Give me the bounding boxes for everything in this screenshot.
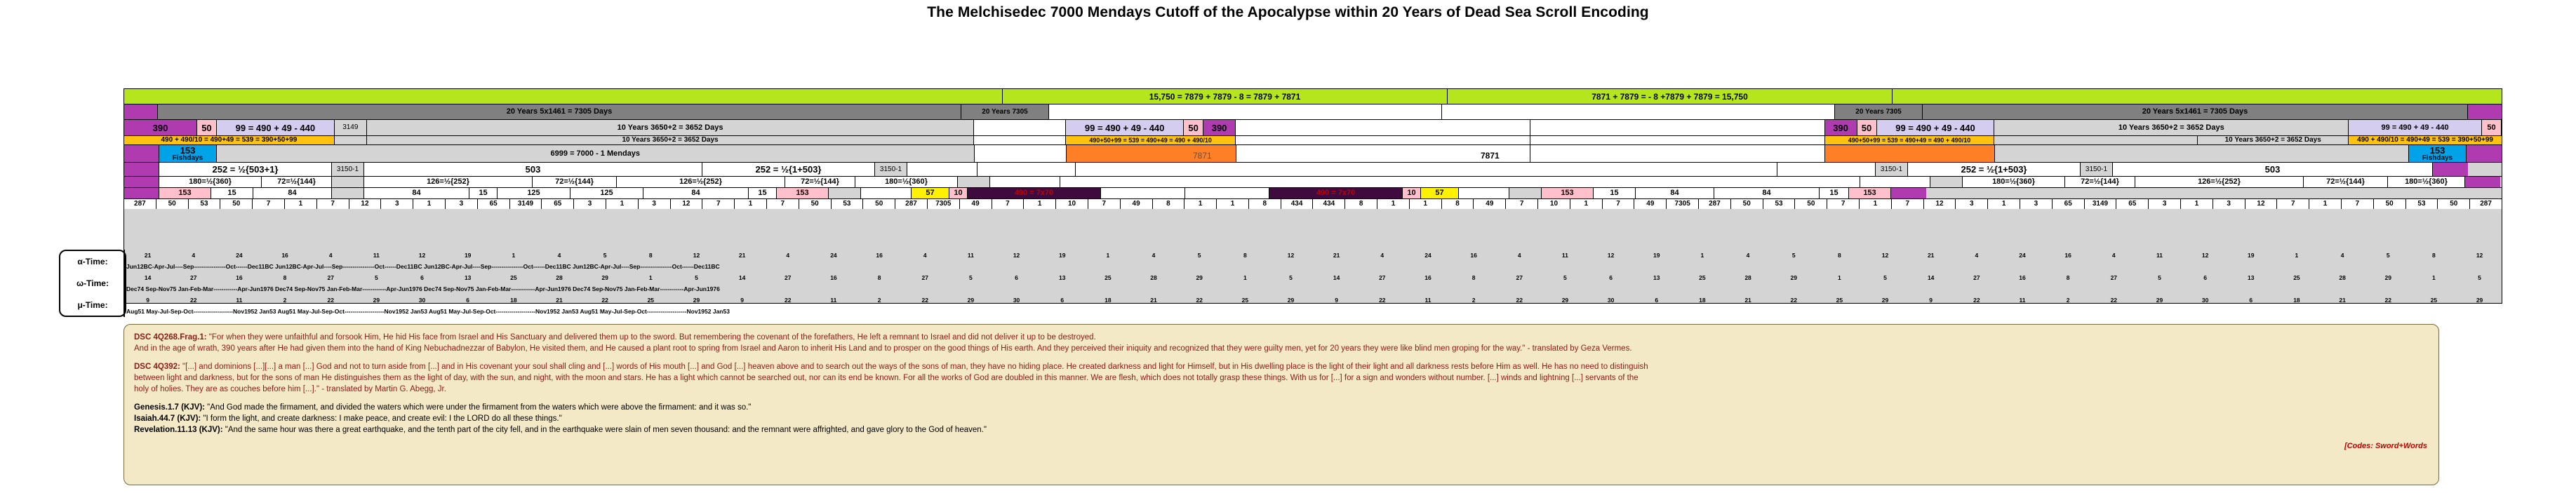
r153-pad1 — [332, 188, 364, 198]
date-number: 29 — [1177, 274, 1222, 281]
date-number: 13 — [1039, 274, 1085, 281]
gold-center-left-formula: 490+50+99 = 539 = 490+49 = 490 + 490/10 — [1066, 136, 1236, 144]
r153-r153b: 153 — [1849, 188, 1891, 198]
date-number: 16 — [1405, 274, 1450, 281]
date-number: 22 — [1954, 297, 1999, 304]
number-cell: 50 — [1731, 199, 1763, 209]
date-number: 24 — [810, 252, 856, 259]
r252-left-3150: 3150-1 — [332, 163, 364, 176]
date-number: 29 — [582, 274, 628, 281]
date-number: 22 — [171, 297, 216, 304]
r252-gap-left — [907, 163, 977, 176]
date-number: 12 — [1268, 252, 1314, 259]
seg-left-10years: 10 Years 3650+2 = 3652 Days — [367, 120, 974, 135]
number-cell: 8 — [1345, 199, 1377, 209]
date-number: 5 — [948, 274, 994, 281]
date-number: 30 — [1588, 297, 1634, 304]
number-cell: 50 — [220, 199, 253, 209]
omega-time-label: ω-Time: — [60, 273, 125, 295]
number-cell: 7 — [1088, 199, 1121, 209]
date-number: 22 — [1497, 297, 1542, 304]
date-number: 8 — [262, 274, 307, 281]
number-cell: 1 — [1024, 199, 1056, 209]
r252-left-252: 252 = ½{503+1} — [159, 163, 332, 176]
number-cell: 10 — [1056, 199, 1088, 209]
revelation-verse: Revelation.11.13 (KJV): "And the same ho… — [134, 424, 2429, 435]
r180-a2: 180=½{360} — [2388, 177, 2465, 187]
date-number: 19 — [2228, 252, 2274, 259]
number-cell: 50 — [863, 199, 895, 209]
gray-left-year-label: 20 Years 5x1461 = 7305 Days — [158, 104, 961, 119]
alpha-time-label: α-Time: — [60, 251, 125, 273]
number-cell: 7 — [1827, 199, 1860, 209]
date-number: 28 — [1130, 274, 1176, 281]
r153-r84: 84 — [1636, 188, 1714, 198]
date-number: 30 — [994, 297, 1039, 304]
date-number: 5 — [582, 252, 628, 259]
half-360-row: 180=½{360} 72=½{144} 126=½{252} 72=½{144… — [124, 176, 2502, 187]
date-number: 5 — [2457, 274, 2502, 281]
number-cell: 12 — [349, 199, 382, 209]
date-number: 1 — [2274, 252, 2319, 259]
r180-d1: 72=½{144} — [533, 177, 617, 187]
seg-center-white-left — [1236, 120, 1530, 135]
date-number: 2 — [262, 297, 307, 304]
date-number: 18 — [1085, 297, 1130, 304]
genesis-ref: Genesis.1.7 (KJV): — [134, 403, 205, 412]
date-number: 28 — [536, 274, 582, 281]
r153-r84b: 84 — [1714, 188, 1820, 198]
date-number: 12 — [1862, 252, 1908, 259]
date-number: 4 — [308, 252, 354, 259]
r252-right-3150: 3150-1 — [1876, 163, 1908, 176]
date-number: 29 — [1542, 297, 1588, 304]
gold-left-10years: 10 Years 3650+2 = 3652 Days — [367, 136, 974, 144]
date-number: 11 — [810, 297, 856, 304]
fish-left-magenta — [124, 145, 159, 162]
date-number: 16 — [1999, 274, 2045, 281]
r153-right-magenta — [1891, 188, 1926, 198]
date-number: 16 — [262, 252, 307, 259]
date-number: 21 — [1908, 252, 1954, 259]
date-number: 1 — [628, 274, 674, 281]
number-cell: 50 — [156, 199, 189, 209]
number-cell: 49 — [1634, 199, 1667, 209]
date-number: 29 — [1268, 297, 1314, 304]
number-cell: 8 — [1249, 199, 1281, 209]
fish-center-white-right — [1530, 145, 1825, 162]
number-cell: 53 — [2406, 199, 2438, 209]
date-number: 4 — [902, 252, 948, 259]
date-number: 13 — [1634, 274, 1679, 281]
date-number: 12 — [674, 252, 719, 259]
r153-yellow-57b: 57 — [1421, 188, 1459, 198]
number-cell: 3 — [446, 199, 478, 209]
r180-d: 126=½{252} — [617, 177, 785, 187]
mu-time-label: μ-Time: — [60, 294, 125, 316]
date-number: 8 — [1222, 252, 1268, 259]
seg-gap-left — [974, 120, 1066, 135]
fish-right-pad — [1995, 145, 2409, 162]
date-number: 5 — [1177, 252, 1222, 259]
date-number: 21 — [1130, 297, 1176, 304]
number-cell: 3 — [2020, 199, 2053, 209]
number-cell: 10 — [1538, 199, 1570, 209]
r180-pad3 — [1930, 177, 1963, 187]
numbers-row: 2875053507171231365314965313127175053502… — [124, 198, 2502, 209]
r180-a: 180=½{360} — [159, 177, 262, 187]
number-cell: 434 — [1281, 199, 1314, 209]
alpha-time-months: Jun12BC-Apr-Jul----Sep----------------Oc… — [125, 261, 2502, 272]
date-number: 18 — [1679, 297, 1725, 304]
seg-center-left-50: 50 — [1184, 120, 1203, 135]
gray-left-magenta-cap — [124, 104, 158, 119]
mu-time-months: Aug51 May-Jul-Sep-Oct-------------------… — [125, 306, 2502, 317]
r252-right-magenta — [2433, 163, 2468, 176]
date-number: 6 — [1039, 297, 1085, 304]
fish-right-fishdays: Fishdays — [2422, 155, 2452, 162]
r180-gap1 — [990, 177, 1060, 187]
date-number: 1 — [2411, 274, 2457, 281]
date-number: 29 — [948, 297, 994, 304]
date-number: 18 — [2274, 297, 2319, 304]
revelation-ref: Revelation.11.13 (KJV): — [134, 426, 223, 434]
r153-pink-10b: 10 — [1403, 188, 1421, 198]
date-number: 6 — [1634, 297, 1679, 304]
number-cell: 3 — [1956, 199, 1988, 209]
fish-center-mendays: 6999 = 7000 - 1 Mendays — [217, 145, 975, 162]
r252-mid-3150b: 3150-1 — [875, 163, 907, 176]
r180-pad2 — [958, 177, 990, 187]
dsc-4q392-label: DSC 4Q392: — [134, 363, 180, 371]
date-number: 25 — [2274, 274, 2319, 281]
number-cell: 1 — [1570, 199, 1603, 209]
gold-right-formula: 490 + 490/10 = 490+49 = 539 = 390+50+99 — [2349, 136, 2502, 144]
r252-center-mid — [1076, 163, 1777, 176]
date-number: 24 — [216, 252, 262, 259]
gray-year-band: 20 Years 5x1461 = 7305 Days 20 Years 730… — [124, 104, 2502, 119]
gold-right-10years: 10 Years 3650+2 = 3652 Days — [2198, 136, 2349, 144]
dsc-4q268-label: DSC 4Q268.Frag.1: — [134, 333, 207, 342]
r180-e2: 72=½{144} — [2065, 177, 2135, 187]
r153-dark-490b: 490 = 7x70 — [1269, 188, 1403, 198]
number-cell: 3 — [2213, 199, 2245, 209]
r153-pad2 — [829, 188, 861, 198]
number-cell: 7 — [1506, 199, 1538, 209]
seg-left-50: 50 — [197, 120, 217, 135]
date-number: 11 — [354, 252, 399, 259]
date-number: 22 — [582, 297, 628, 304]
number-cell: 50 — [2438, 199, 2470, 209]
date-number: 29 — [1771, 274, 1817, 281]
r180-e: 72=½{144} — [785, 177, 855, 187]
r153-m84b: 84 — [643, 188, 749, 198]
number-cell: 8 — [1442, 199, 1474, 209]
number-cell: 1 — [1377, 199, 1410, 209]
number-cell: 7 — [767, 199, 799, 209]
date-number: 27 — [2091, 274, 2137, 281]
date-number: 21 — [1725, 297, 1770, 304]
number-cell: 7 — [992, 199, 1025, 209]
number-cell: 7305 — [1667, 199, 1699, 209]
r153-left-84: 84 — [253, 188, 332, 198]
date-number: 5 — [1268, 274, 1314, 281]
number-cell: 1 — [413, 199, 446, 209]
seg-left-3149: 3149 — [335, 120, 367, 135]
date-number: 27 — [171, 274, 216, 281]
number-cell: 50 — [2374, 199, 2406, 209]
date-number: 29 — [1862, 297, 1908, 304]
date-number: 11 — [216, 297, 262, 304]
seg-left-99: 99 = 490 + 49 - 440 — [217, 120, 335, 135]
seg-right-10years: 10 Years 3650+2 = 3652 Days — [1994, 120, 2349, 135]
date-number: 4 — [765, 252, 810, 259]
date-number: 19 — [1039, 252, 1085, 259]
date-number: 2 — [857, 297, 902, 304]
date-number: 16 — [2046, 252, 2091, 259]
date-number: 22 — [1359, 297, 1405, 304]
date-number: 27 — [765, 274, 810, 281]
date-number: 18 — [490, 297, 536, 304]
seg-left-390: 390 — [124, 120, 197, 135]
r153-left-magenta — [124, 188, 159, 198]
date-number: 27 — [1497, 274, 1542, 281]
date-number: 25 — [1817, 297, 1862, 304]
number-cell: 12 — [2245, 199, 2278, 209]
fish-right-magenta — [2467, 145, 2502, 162]
date-grid: 2142416411121914581221424164111219145812… — [124, 250, 2502, 317]
r153-left-153: 153 — [159, 188, 211, 198]
isaiah-text: "I form the light, and create darkness: … — [201, 414, 561, 423]
gray-right-year-label: 20 Years 5x1461 = 7305 Days — [1923, 104, 2468, 119]
r180-f2: 180=½{360} — [1963, 177, 2065, 187]
date-number: 12 — [399, 252, 445, 259]
number-cell: 12 — [671, 199, 703, 209]
date-number: 22 — [2091, 297, 2137, 304]
date-number: 8 — [628, 252, 674, 259]
fish-left-fishdays: Fishdays — [173, 155, 203, 162]
lime-left-blank — [124, 89, 1003, 104]
fish-gap-left — [975, 145, 1067, 162]
date-number: 16 — [810, 274, 856, 281]
number-cell: 65 — [2053, 199, 2085, 209]
seg-center-right-50: 50 — [1857, 120, 1877, 135]
number-cell: 7 — [1892, 199, 1924, 209]
date-number: 27 — [308, 274, 354, 281]
number-cell: 1 — [606, 199, 639, 209]
fish-left-153: 153 — [180, 146, 196, 155]
number-cell: 1 — [735, 199, 767, 209]
date-number: 22 — [765, 297, 810, 304]
r153-m125: 125 — [498, 188, 570, 198]
dsc-4q268-line2-wrap: And in the age of wrath, 390 years after… — [134, 343, 2429, 354]
number-cell: 7305 — [928, 199, 960, 209]
mu-time-numbers: 9221122229306182122252992211222293061821… — [125, 295, 2502, 306]
date-number: 4 — [1725, 252, 1770, 259]
dsc-4q392-line1: "[...] and dominions [...][...] a man [.… — [182, 363, 1648, 371]
number-cell: 65 — [542, 199, 574, 209]
values-153-row: 153 15 84 84 15 125 125 84 15 153 57 10 … — [124, 187, 2502, 198]
date-number: 14 — [719, 274, 765, 281]
date-number: 16 — [1451, 252, 1497, 259]
r180-right-magenta — [2465, 177, 2500, 187]
date-number: 11 — [948, 252, 994, 259]
gray-center-left-gap — [1049, 104, 1442, 119]
date-number: 28 — [1725, 274, 1770, 281]
seg-right-99b: 99 = 490 + 49 - 440 — [2349, 120, 2482, 135]
r153-r15b: 15 — [1820, 188, 1849, 198]
r153-dark-490: 490 = 7x70 — [968, 188, 1101, 198]
gold-right-pad — [1994, 136, 2198, 144]
date-number: 21 — [1314, 252, 1359, 259]
date-number: 8 — [1817, 252, 1862, 259]
date-number: 12 — [1588, 252, 1634, 259]
date-number: 25 — [2411, 297, 2457, 304]
number-cell: 7 — [253, 199, 285, 209]
number-cell: 287 — [1699, 199, 1731, 209]
number-cell: 1 — [2181, 199, 2213, 209]
r252-right-252: 252 = ½{1+503} — [1908, 163, 2081, 176]
date-number: 4 — [2320, 252, 2365, 259]
number-cell: 434 — [1313, 199, 1345, 209]
number-cell: 53 — [832, 199, 864, 209]
date-number: 22 — [2365, 297, 2411, 304]
date-number: 2 — [2046, 297, 2091, 304]
date-number: 21 — [536, 297, 582, 304]
date-number: 28 — [2320, 274, 2365, 281]
number-cell: 287 — [2470, 199, 2502, 209]
r252-left-magenta — [124, 163, 159, 176]
isaiah-ref: Isaiah.44.7 (KJV): — [134, 414, 201, 423]
fishdays-mendays-row: 153 Fishdays 6999 = 7000 - 1 Mendays 153… — [124, 144, 2502, 162]
number-cell: 53 — [1763, 199, 1796, 209]
date-number: 1 — [1679, 252, 1725, 259]
seg-right-50b: 50 — [2482, 120, 2502, 135]
date-number: 4 — [1130, 252, 1176, 259]
date-number: 12 — [2182, 252, 2228, 259]
number-cell: 53 — [189, 199, 221, 209]
date-number: 4 — [2091, 252, 2137, 259]
date-number: 22 — [1771, 297, 1817, 304]
date-number: 12 — [2457, 252, 2502, 259]
fish-right-block: 153 Fishdays — [2409, 145, 2467, 162]
r153-gap2 — [1459, 188, 1509, 198]
number-cell: 7 — [2277, 199, 2309, 209]
r153-m125b: 125 — [570, 188, 643, 198]
dsc-4q392-line3-wrap: holy of holies. They are as couches befo… — [134, 384, 2429, 395]
r153-left-15: 15 — [211, 188, 253, 198]
date-number: 6 — [2182, 274, 2228, 281]
number-cell: 3 — [639, 199, 671, 209]
r153-m84: 84 — [364, 188, 469, 198]
fish-left-block: 153 Fishdays — [159, 145, 217, 162]
r252-mid-252b: 252 = ½{1+503} — [702, 163, 875, 176]
half-503-row: 252 = ½{503+1} 3150-1 503 252 = ½{1+503}… — [124, 162, 2502, 176]
number-cell: 3 — [2149, 199, 2181, 209]
date-number: 2 — [1451, 297, 1497, 304]
r153-r15: 15 — [1594, 188, 1636, 198]
date-number: 6 — [994, 274, 1039, 281]
codes-annotation: [Codes: Sword+Words — [2344, 441, 2427, 452]
date-number: 25 — [1679, 274, 1725, 281]
fish-right-153: 153 — [2430, 146, 2445, 155]
number-cell: 49 — [960, 199, 992, 209]
number-cell: 7 — [2342, 199, 2374, 209]
date-number: 9 — [1908, 297, 1954, 304]
number-cell: 1 — [1217, 199, 1249, 209]
gray-center-right-gap — [1442, 104, 1835, 119]
revelation-text: "And the same hour was there a great ear… — [223, 426, 987, 434]
date-number: 5 — [2137, 274, 2182, 281]
date-number: 29 — [674, 297, 719, 304]
genesis-verse: Genesis.1.7 (KJV): "And God made the fir… — [134, 402, 2429, 413]
number-cell: 287 — [124, 199, 156, 209]
date-number: 30 — [2182, 297, 2228, 304]
r180-center — [1060, 177, 1860, 187]
gray-center-right-year: 20 Years 7305 — [1835, 104, 1923, 119]
number-cell: 1 — [1184, 199, 1217, 209]
date-number: 5 — [1862, 274, 1908, 281]
date-number: 19 — [1634, 252, 1679, 259]
date-number: 6 — [445, 297, 490, 304]
number-cell: 1 — [285, 199, 317, 209]
scroll-quotes-box: DSC 4Q268.Frag.1: "For when they were un… — [124, 324, 2439, 485]
r153-m15: 15 — [469, 188, 498, 198]
date-number: 11 — [1542, 252, 1588, 259]
date-number: 1 — [1085, 252, 1130, 259]
r153-r153: 153 — [1542, 188, 1594, 198]
gold-gap-left — [974, 136, 1066, 144]
r180-f: 180=½{360} — [855, 177, 958, 187]
main-segments-row: 390 50 99 = 490 + 49 - 440 3149 10 Years… — [124, 119, 2502, 135]
lime-equation-band: 15,750 = 7879 + 7879 - 8 = 7879 + 7871 7… — [124, 89, 2502, 104]
r153-yellow-57: 57 — [912, 188, 949, 198]
lime-mid-right-equation: 7871 + 7879 = - 8 +7879 + 7879 = 15,750 — [1448, 89, 1893, 104]
seg-center-left-390: 390 — [1203, 120, 1236, 135]
lime-right-blank — [1893, 89, 2502, 104]
center-right-7871: 7871 — [1481, 151, 1500, 161]
date-number: 25 — [1085, 274, 1130, 281]
r252-center-right — [1777, 163, 1876, 176]
r180-c2: 72=½{144} — [2304, 177, 2388, 187]
number-cell: 50 — [799, 199, 832, 209]
r252-mid-503: 503 — [364, 163, 702, 176]
date-number: 12 — [994, 252, 1039, 259]
date-number: 6 — [399, 274, 445, 281]
date-number: 11 — [1405, 297, 1450, 304]
gold-left-formula: 490 + 490/10 = 490+49 = 539 = 390+50+99 — [124, 136, 335, 144]
date-number: 4 — [1359, 252, 1405, 259]
date-number: 13 — [445, 274, 490, 281]
date-number: 13 — [2228, 274, 2274, 281]
gold-center-right-formula: 490+50+99 = 539 = 490+49 = 490 + 490/10 — [1825, 136, 1995, 144]
gold-center-white-right — [1530, 136, 1825, 144]
r180-c: 126=½{252} — [364, 177, 533, 187]
date-number: 25 — [628, 297, 674, 304]
dsc-4q268-line1: "For when they were unfaithful and forso… — [209, 333, 1096, 342]
date-number: 19 — [445, 252, 490, 259]
date-number: 6 — [2228, 297, 2274, 304]
date-number: 16 — [857, 252, 902, 259]
gray-right-magenta-cap — [2468, 104, 2502, 119]
number-cell: 65 — [2116, 199, 2149, 209]
r180-pad1 — [332, 177, 364, 187]
number-cell: 7 — [317, 199, 349, 209]
date-number: 21 — [719, 252, 765, 259]
r153-pad3 — [1509, 188, 1542, 198]
isaiah-verse: Isaiah.44.7 (KJV): "I form the light, an… — [134, 413, 2429, 424]
number-cell: 287 — [895, 199, 928, 209]
